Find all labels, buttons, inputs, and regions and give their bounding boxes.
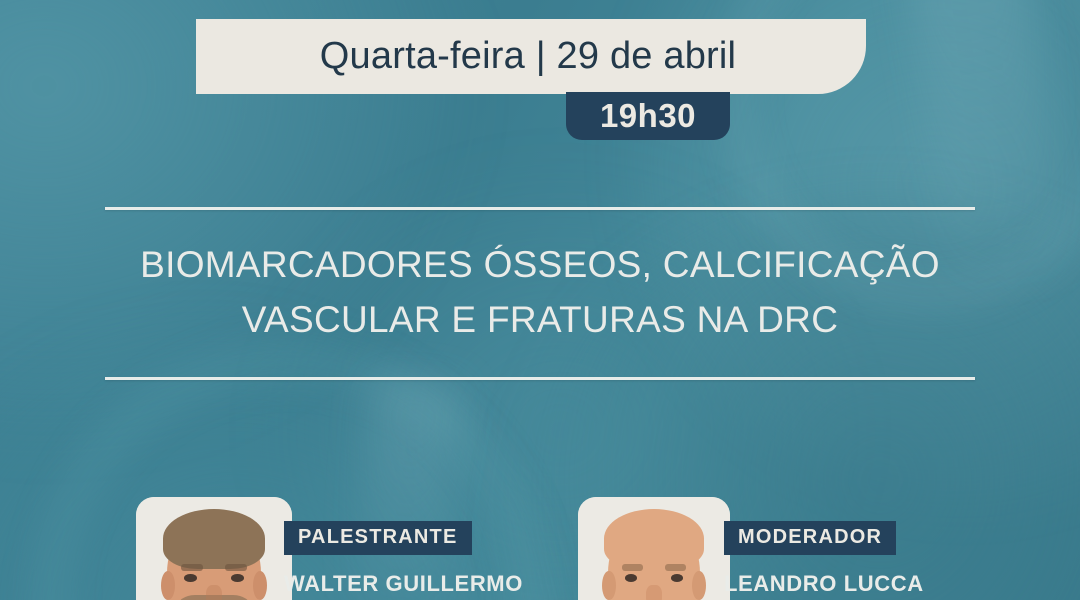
moderator-name: LEANDRO LUCCA xyxy=(724,570,924,598)
moderator-photo-card xyxy=(578,497,730,600)
moderator-name-line-1: LEANDRO LUCCA xyxy=(724,570,924,598)
page-title-line-1: BIOMARCADORES ÓSSEOS, CALCIFICAÇÃO xyxy=(60,238,1020,293)
time-badge: 19h30 xyxy=(566,92,730,140)
time-text: 19h30 xyxy=(600,97,696,135)
people-row: PALESTRANTE WALTER GUILLERMO DOUTHAT xyxy=(0,497,1080,600)
speaker-photo-card xyxy=(136,497,292,600)
page-title: BIOMARCADORES ÓSSEOS, CALCIFICAÇÃO VASCU… xyxy=(60,238,1020,348)
page-title-line-2: VASCULAR E FRATURAS NA DRC xyxy=(60,293,1020,348)
divider-top xyxy=(105,207,975,210)
speaker-info: PALESTRANTE WALTER GUILLERMO DOUTHAT xyxy=(284,497,523,600)
speaker-name: WALTER GUILLERMO DOUTHAT xyxy=(284,570,523,600)
person-card-speaker: PALESTRANTE WALTER GUILLERMO DOUTHAT xyxy=(136,497,523,600)
date-text: Quarta-feira | 29 de abril xyxy=(320,35,736,78)
speaker-portrait-image xyxy=(136,497,292,600)
webinar-poster: Quarta-feira | 29 de abril 19h30 BIOMARC… xyxy=(0,0,1080,600)
speaker-name-line-1: WALTER GUILLERMO xyxy=(284,570,523,598)
person-card-moderator: MODERADOR LEANDRO LUCCA xyxy=(578,497,924,600)
speaker-role-badge: PALESTRANTE xyxy=(284,521,472,555)
divider-bottom xyxy=(105,377,975,380)
moderator-role-badge: MODERADOR xyxy=(724,521,896,555)
date-banner: Quarta-feira | 29 de abril xyxy=(196,19,866,94)
moderator-info: MODERADOR LEANDRO LUCCA xyxy=(724,497,924,598)
moderator-portrait-image xyxy=(578,497,730,600)
